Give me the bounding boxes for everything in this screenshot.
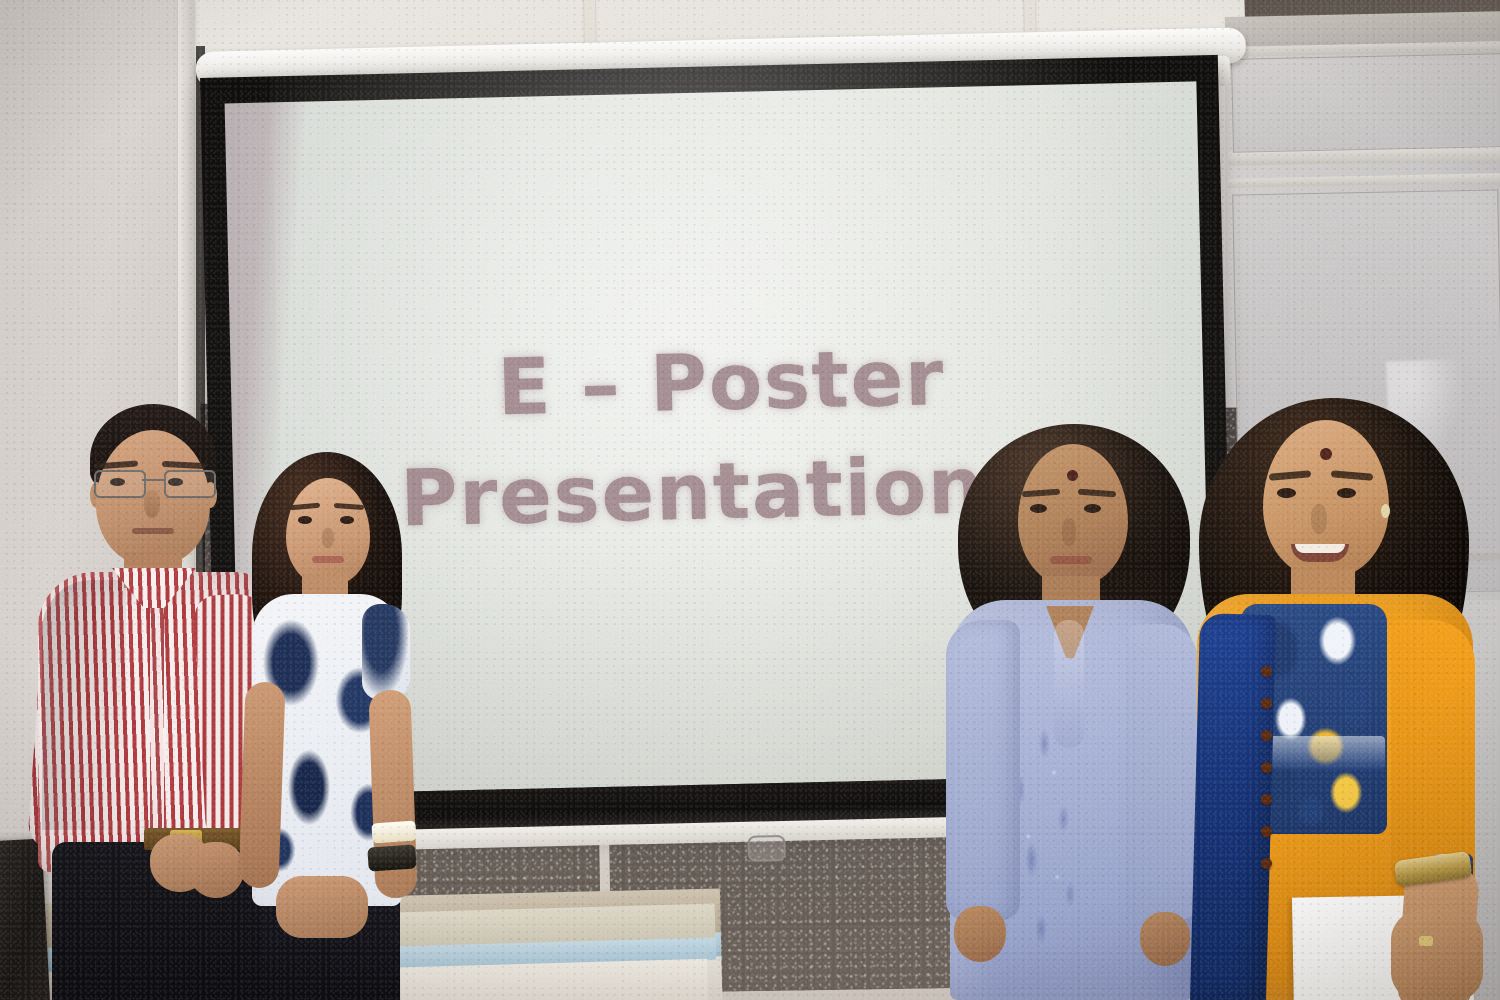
kurta-button-3 bbox=[1261, 730, 1272, 741]
shirt-placket bbox=[150, 600, 164, 850]
right-lens bbox=[164, 470, 216, 498]
kurta-button-1 bbox=[1261, 666, 1272, 677]
left-hand bbox=[954, 906, 1006, 962]
kurta-button-2 bbox=[1261, 698, 1272, 709]
kurta-button-6 bbox=[1261, 826, 1272, 837]
smiling-mouth bbox=[1291, 544, 1349, 562]
white-wristband bbox=[371, 820, 416, 843]
mouth bbox=[312, 556, 344, 563]
kurta-button-5 bbox=[1261, 794, 1272, 805]
person-woman-periwinkle-kurta bbox=[950, 424, 1200, 1000]
teeth bbox=[1295, 544, 1345, 553]
right-hand bbox=[1391, 910, 1483, 1000]
left-eye bbox=[1277, 488, 1296, 498]
nose bbox=[1311, 504, 1327, 534]
kurta-button-7 bbox=[1261, 858, 1272, 869]
person-woman-tiedye-top bbox=[246, 452, 406, 1000]
glasses-bridge bbox=[142, 479, 164, 481]
earring bbox=[1381, 504, 1390, 518]
left-lens bbox=[94, 470, 146, 498]
black-wristwatch bbox=[367, 844, 417, 871]
right-hand bbox=[188, 842, 244, 898]
tiedye-sleeve bbox=[362, 604, 410, 700]
bindi bbox=[1320, 448, 1332, 460]
left-eye bbox=[298, 516, 312, 524]
kurta-button-4 bbox=[1261, 762, 1272, 773]
left-eye bbox=[1030, 504, 1047, 513]
right-hand bbox=[1140, 912, 1190, 966]
gold-ring bbox=[1419, 936, 1433, 946]
lectern bbox=[395, 904, 718, 1000]
nose bbox=[144, 490, 160, 518]
left-arm bbox=[238, 681, 285, 888]
nose bbox=[322, 528, 334, 548]
bindi bbox=[1067, 470, 1078, 481]
clasped-hands bbox=[276, 876, 368, 938]
photo-scene: E – Poster Presentations bbox=[0, 0, 1500, 1000]
left-arm bbox=[946, 620, 1020, 920]
mouth bbox=[1050, 556, 1092, 564]
right-eye bbox=[1084, 504, 1101, 513]
nose bbox=[1062, 518, 1076, 546]
mouth bbox=[132, 528, 174, 534]
screen-pull-ring-icon[interactable] bbox=[747, 835, 786, 862]
right-panel-upper bbox=[1231, 53, 1500, 153]
person-woman-orange-kurta bbox=[1185, 398, 1485, 1000]
right-eye bbox=[1337, 488, 1356, 498]
shoulder-shadow bbox=[42, 580, 126, 830]
eyeglasses-icon bbox=[92, 470, 216, 494]
right-eye bbox=[340, 516, 354, 524]
